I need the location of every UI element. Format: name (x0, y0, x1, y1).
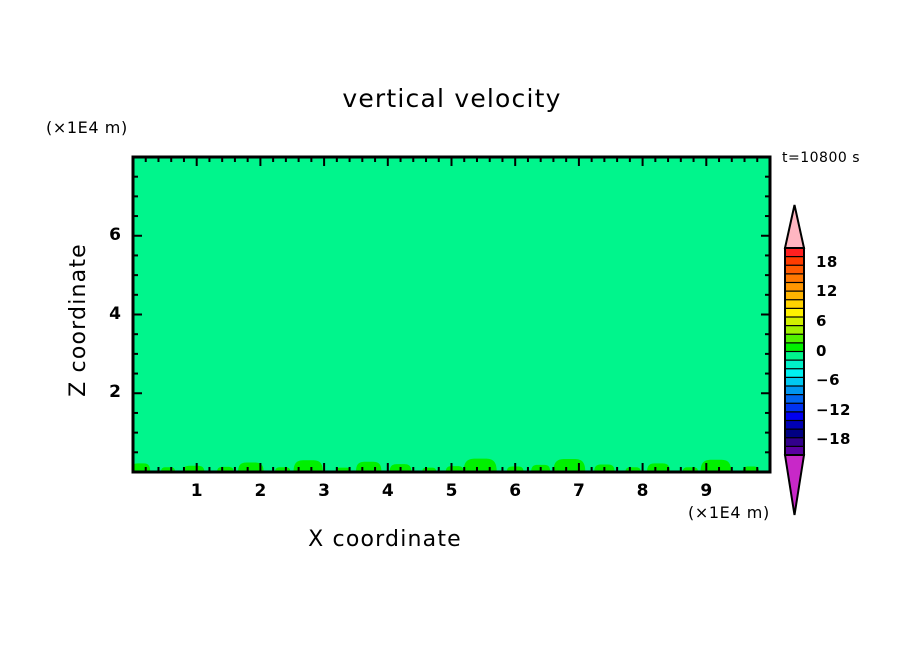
colorbar-band-12 (785, 352, 804, 361)
colorbar-tick-label: 6 (816, 312, 827, 330)
plume-15 (553, 459, 585, 472)
x-tick-label: 1 (172, 481, 222, 501)
x-tick-label: 9 (681, 481, 731, 501)
x-tick-label: 4 (363, 481, 413, 501)
colorbar-band-9 (785, 326, 804, 335)
colorbar-band-4 (785, 283, 804, 292)
colorbar-band-13 (785, 360, 804, 369)
colorbar-tick-label: −12 (816, 401, 851, 419)
x-tick-label: 5 (427, 481, 477, 501)
colorbar-band-6 (785, 300, 804, 309)
plot-area (0, 0, 904, 654)
field-background (133, 157, 770, 472)
colorbar-band-5 (785, 291, 804, 300)
colorbar-band-17 (785, 395, 804, 404)
figure-canvas: vertical velocity (×1E4 m) t=10800 s (×1… (0, 0, 904, 654)
colorbar-band-11 (785, 343, 804, 352)
x-tick-label: 7 (554, 481, 604, 501)
y-tick-label: 6 (87, 225, 121, 245)
velocity-field (131, 157, 770, 472)
colorbar-tick-label: 18 (816, 253, 838, 271)
colorbar[interactable] (785, 205, 804, 515)
colorbar-over-arrow (785, 205, 804, 248)
colorbar-band-7 (785, 308, 804, 317)
plume-8 (356, 462, 381, 472)
y-tick-label: 2 (87, 382, 121, 402)
colorbar-band-2 (785, 265, 804, 274)
y-tick-label: 4 (87, 304, 121, 324)
colorbar-band-14 (785, 369, 804, 378)
colorbar-band-18 (785, 403, 804, 412)
colorbar-band-22 (785, 438, 804, 447)
colorbar-band-21 (785, 429, 804, 438)
colorbar-tick-label: −18 (816, 430, 851, 448)
plume-20 (701, 460, 732, 472)
colorbar-band-1 (785, 257, 804, 266)
colorbar-tick-label: −6 (816, 371, 840, 389)
colorbar-band-3 (785, 274, 804, 283)
x-tick-label: 8 (618, 481, 668, 501)
colorbar-band-10 (785, 334, 804, 343)
colorbar-band-19 (785, 412, 804, 421)
colorbar-band-8 (785, 317, 804, 326)
x-tick-label: 3 (299, 481, 349, 501)
colorbar-tick-label: 0 (816, 342, 827, 360)
colorbar-band-16 (785, 386, 804, 395)
colorbar-tick-label: 12 (816, 282, 838, 300)
plume-12 (464, 459, 497, 472)
x-tick-label: 6 (490, 481, 540, 501)
colorbar-band-20 (785, 421, 804, 430)
colorbar-band-15 (785, 377, 804, 386)
colorbar-under-arrow (785, 455, 804, 515)
x-tick-label: 2 (235, 481, 285, 501)
colorbar-band-0 (785, 248, 804, 257)
